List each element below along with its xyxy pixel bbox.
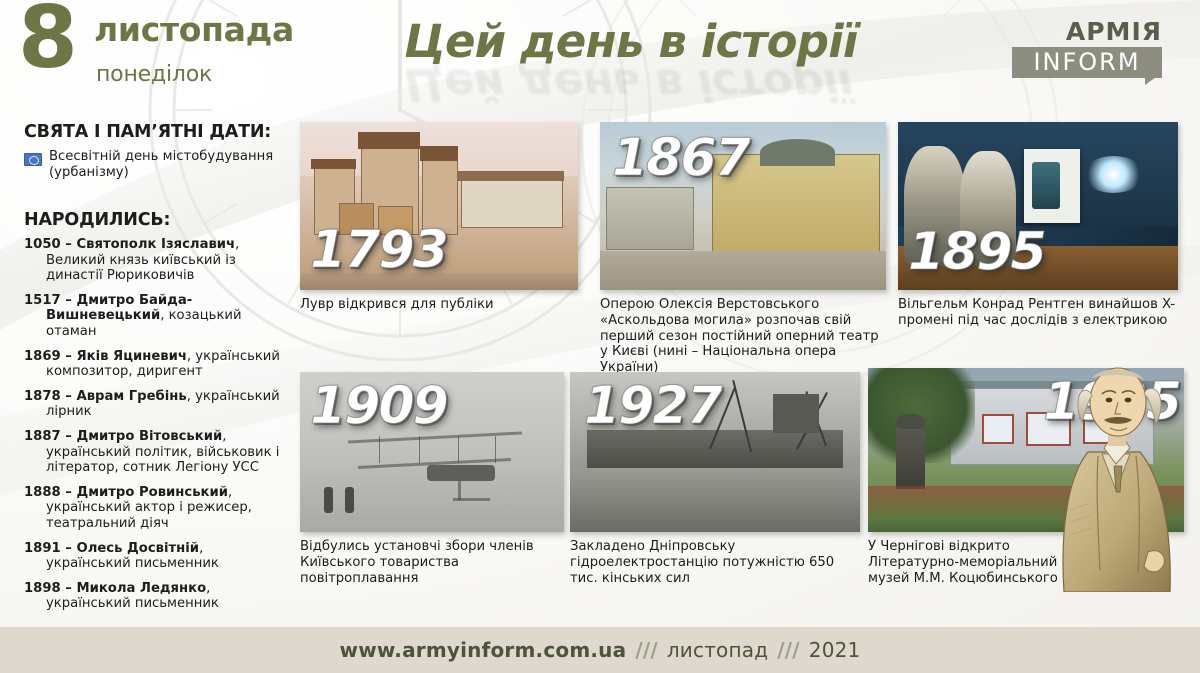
early-biplane-photo: 1909 [300, 372, 564, 532]
born-person-name: Микола Ледянко [76, 581, 206, 596]
caption-1895: Вільгельм Конрад Рентген винайшов X-пром… [898, 297, 1180, 329]
page-footer: www.armyinform.com.ua /// листопад /// 2… [0, 627, 1200, 673]
event-card-1935: 1935 У Чернігові відкрито Літературно-ме… [868, 368, 1188, 586]
event-card-1793: 1793 Лувр відкрився для публіки [300, 122, 580, 313]
born-year: 1898 – [24, 581, 76, 596]
born-year: 1878 – [24, 389, 76, 404]
born-list: 1050 – Святополк Ізяславич, Великий княз… [24, 237, 286, 612]
year-1935: 1935 [1043, 376, 1180, 428]
kotsiubynsky-museum-photo: 1935 [868, 368, 1184, 532]
infographic-page: Цей день в історії 8 листопада понеділок… [0, 0, 1200, 673]
date-block: 8 листопада понеділок [18, 4, 288, 100]
born-list-item: 1887 – Дмитро Вітовський, український по… [24, 429, 286, 476]
born-list-item: 1050 – Святополк Ізяславич, Великий княз… [24, 237, 286, 284]
born-year: 1517 – [24, 293, 76, 308]
born-list-item: 1869 – Яків Яциневич, український композ… [24, 349, 286, 380]
footer-month: листопад [667, 640, 768, 660]
holidays-heading: СВЯТА І ПАМ’ЯТНІ ДАТИ: [24, 122, 286, 142]
weekday-name: понеділок [96, 64, 212, 86]
born-person-name: Дмитро Ровинський [76, 485, 228, 500]
born-person-name: Яків Яциневич [76, 349, 186, 364]
born-year: 1050 – [24, 237, 76, 252]
born-person-name: Святополк Ізяславич [76, 237, 235, 252]
logo-bottom-text: INFORM [1012, 47, 1162, 78]
born-list-item: 1888 – Дмитро Ровинський, український ак… [24, 485, 286, 532]
dnipro-hydro-construction-photo: 1927 [570, 372, 860, 532]
born-year: 1891 – [24, 541, 76, 556]
day-number: 8 [18, 0, 78, 81]
caption-1867: Оперою Олексія Верстовського «Аскольдова… [600, 297, 888, 376]
born-person-name: Аврам Гребінь [76, 389, 186, 404]
caption-1935: У Чернігові відкрито Літературно-меморіа… [868, 539, 1086, 586]
year-1793: 1793 [310, 224, 447, 276]
born-list-item: 1517 – Дмитро Байда-Вишневецький, козаць… [24, 293, 286, 340]
born-year: 1887 – [24, 429, 76, 444]
footer-content: www.armyinform.com.ua /// листопад /// 2… [340, 640, 861, 660]
year-1909: 1909 [310, 380, 447, 432]
footer-year: 2021 [809, 640, 861, 660]
born-list-item: 1878 – Аврам Гребінь, український лірник [24, 389, 286, 420]
page-title: Цей день в історії [404, 18, 844, 66]
armyinform-logo[interactable]: АРМІЯ INFORM [1012, 18, 1162, 80]
caption-1793: Лувр відкрився для публіки [300, 297, 580, 313]
year-1895: 1895 [908, 226, 1045, 278]
event-card-1909: 1909 Відбулись установчі збори членів Ки… [300, 372, 566, 586]
born-list-item: 1891 – Олесь Досвітній, український пись… [24, 541, 286, 572]
page-header: 8 листопада понеділок Цей день в історії… [0, 0, 1200, 108]
event-card-1895: 1895 Вільгельм Конрад Рентген винайшов X… [898, 122, 1180, 329]
event-card-1927: 1927 Закладено Дніпровську гідроелектрос… [570, 372, 862, 586]
caption-1927: Закладено Дніпровську гідроелектростанці… [570, 539, 862, 586]
footer-separator-1: /// [635, 640, 658, 660]
event-card-1867: 1867 Оперою Олексія Верстовського «Аскол… [600, 122, 888, 376]
footer-url[interactable]: www.armyinform.com.ua [340, 640, 627, 660]
logo-top-text: АРМІЯ [1012, 18, 1162, 45]
sidebar: СВЯТА І ПАМ’ЯТНІ ДАТИ: Всесвітній день м… [24, 122, 286, 621]
born-year: 1869 – [24, 349, 76, 364]
holiday-item: Всесвітній день містобудування (урбанізм… [24, 149, 286, 180]
kyiv-opera-postcard-photo: 1867 [600, 122, 886, 290]
born-person-name: Дмитро Вітовський [76, 429, 222, 444]
born-year: 1888 – [24, 485, 76, 500]
louvre-engraving-photo: 1793 [300, 122, 578, 290]
footer-separator-2: /// [777, 640, 800, 660]
born-heading: НАРОДИЛИСЬ: [24, 210, 286, 230]
roentgen-xray-painting-photo: 1895 [898, 122, 1178, 290]
year-1867: 1867 [612, 132, 749, 184]
born-person-name: Олесь Досвітній [76, 541, 199, 556]
born-list-item: 1898 – Микола Ледянко, український письм… [24, 581, 286, 612]
holiday-label: Всесвітній день містобудування (урбанізм… [49, 149, 286, 180]
caption-1909: Відбулись установчі збори членів Київськ… [300, 539, 566, 586]
year-1927: 1927 [584, 380, 721, 432]
month-name: листопада [94, 13, 294, 46]
un-flag-icon [24, 153, 42, 166]
